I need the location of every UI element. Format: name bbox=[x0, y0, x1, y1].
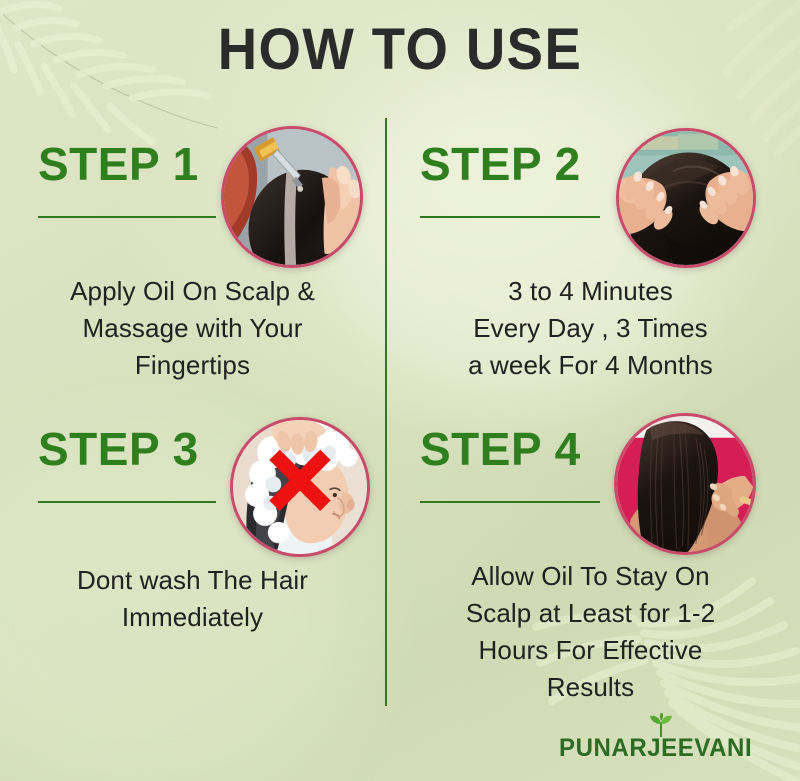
page-title: HOW TO USE bbox=[24, 14, 776, 86]
step-photo-4 bbox=[614, 413, 756, 555]
step-text-line: 3 to 4 Minutes bbox=[406, 273, 775, 310]
step-text-3: Dont wash The Hair Immediately bbox=[0, 540, 385, 636]
step-label-3: STEP 3 bbox=[38, 421, 199, 477]
step-text-line: Fingertips bbox=[18, 347, 367, 384]
step-rule-1 bbox=[38, 216, 216, 218]
step-text-line: Massage with Your bbox=[18, 310, 367, 347]
step-header-1: STEP 1 bbox=[0, 130, 385, 255]
step-text-line: Scalp at Least for 1-2 bbox=[406, 595, 775, 632]
step-label-1: STEP 1 bbox=[38, 136, 199, 192]
step-rule-3 bbox=[38, 501, 216, 503]
step-rule-2 bbox=[420, 216, 600, 218]
step-header-2: STEP 2 bbox=[398, 130, 783, 255]
step-card-4: STEP 4 bbox=[398, 415, 783, 706]
photo-washing-hair-with-shampoo-crossed-out bbox=[233, 420, 367, 554]
step-text-line: Results bbox=[406, 669, 775, 706]
photo-hands-massaging-scalp bbox=[619, 131, 753, 265]
step-card-2: STEP 2 bbox=[398, 130, 783, 384]
step-text-line: Allow Oil To Stay On bbox=[406, 558, 775, 595]
step-card-3: STEP 3 bbox=[0, 415, 385, 636]
photo-woman-with-long-hair-from-behind bbox=[617, 416, 753, 552]
step-text-line: Every Day , 3 Times bbox=[406, 310, 775, 347]
how-to-use-infographic: HOW TO USE STEP 1 bbox=[0, 0, 800, 781]
step-text-line: a week For 4 Months bbox=[406, 347, 775, 384]
step-photo-3 bbox=[230, 417, 370, 557]
step-card-1: STEP 1 bbox=[0, 130, 385, 384]
brand-name: PUNARJEEVANI bbox=[559, 734, 752, 763]
brand-logo: PUNARJEEVANI bbox=[555, 713, 756, 763]
step-header-4: STEP 4 bbox=[398, 415, 783, 540]
step-text-2: 3 to 4 Minutes Every Day , 3 Times a wee… bbox=[398, 255, 783, 384]
step-photo-1 bbox=[221, 126, 363, 268]
photo-dropper-applying-oil-to-scalp bbox=[224, 129, 360, 265]
step-text-line: Hours For Effective bbox=[406, 632, 775, 669]
step-rule-4 bbox=[420, 501, 600, 503]
step-text-4: Allow Oil To Stay On Scalp at Least for … bbox=[398, 540, 783, 706]
step-header-3: STEP 3 bbox=[0, 415, 385, 540]
step-label-4: STEP 4 bbox=[420, 421, 581, 477]
vertical-divider bbox=[385, 118, 387, 706]
step-label-2: STEP 2 bbox=[420, 136, 581, 192]
step-text-line: Apply Oil On Scalp & bbox=[18, 273, 367, 310]
step-text-1: Apply Oil On Scalp & Massage with Your F… bbox=[0, 255, 385, 384]
step-text-line: Immediately bbox=[18, 599, 367, 636]
step-text-line: Dont wash The Hair bbox=[18, 562, 367, 599]
step-photo-2 bbox=[616, 128, 756, 268]
